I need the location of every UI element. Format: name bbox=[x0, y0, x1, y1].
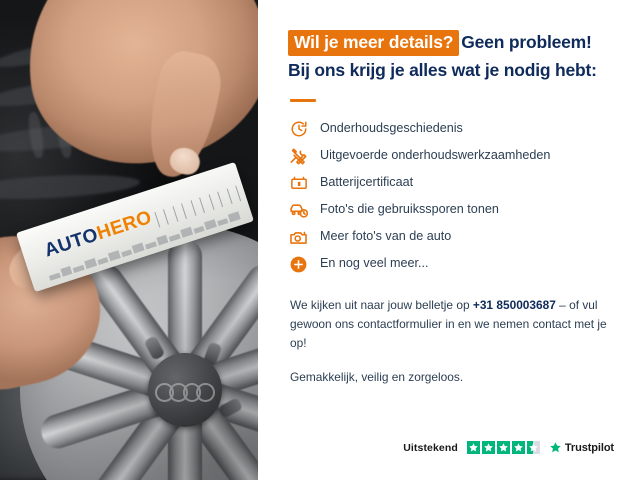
ad-content-panel: Wil je meer details?Geen probleem! Bij o… bbox=[258, 0, 640, 480]
headline-rest: Geen probleem! bbox=[461, 32, 591, 52]
trustpilot-star bbox=[512, 441, 525, 454]
trustpilot-star-half bbox=[527, 441, 540, 454]
list-item-label: Uitgevoerde onderhoudswerkzaamheden bbox=[320, 148, 550, 163]
trustpilot-brand-name: Trustpilot bbox=[565, 442, 614, 454]
list-item: Meer foto's van de auto bbox=[288, 224, 614, 251]
contact-text-pre: We kijken uit naar jouw belletje op bbox=[290, 298, 473, 312]
battery-icon bbox=[288, 173, 309, 194]
tyre-inspection-photo: AUTOHERO bbox=[0, 0, 258, 480]
trustpilot-stars bbox=[467, 441, 540, 454]
tagline-paragraph: Gemakkelijk, veilig en zorgeloos. bbox=[290, 368, 614, 387]
phone-number[interactable]: +31 850003687 bbox=[473, 298, 556, 312]
list-item-label: Meer foto's van de auto bbox=[320, 229, 451, 244]
list-item-label: Onderhoudsgeschiedenis bbox=[320, 121, 463, 136]
trustpilot-rating-word: Uitstekend bbox=[403, 442, 458, 454]
car-wear-photo-icon bbox=[288, 200, 309, 221]
list-item-label: En nog veel meer... bbox=[320, 256, 429, 271]
tools-icon bbox=[288, 146, 309, 167]
orange-divider bbox=[290, 99, 316, 102]
headline-highlight: Wil je meer details? bbox=[288, 30, 459, 56]
trustpilot-brand: Trustpilot bbox=[549, 441, 614, 454]
headline-line-2: Bij ons krijg je alles wat je nodig hebt… bbox=[288, 59, 614, 82]
contact-paragraph: We kijken uit naar jouw belletje op +31 … bbox=[290, 296, 614, 354]
camera-icon bbox=[288, 227, 309, 248]
list-item-label: Batterijcertificaat bbox=[320, 175, 413, 190]
list-item: Onderhoudsgeschiedenis bbox=[288, 116, 614, 143]
list-item: Uitgevoerde onderhoudswerkzaamheden bbox=[288, 143, 614, 170]
feature-list: Onderhoudsgeschiedenis Uitgevoerde onder… bbox=[288, 116, 614, 278]
page-title: Wil je meer details?Geen probleem! Bij o… bbox=[288, 30, 614, 83]
photo-scene: AUTOHERO bbox=[0, 0, 258, 480]
list-item: En nog veel meer... bbox=[288, 251, 614, 278]
trustpilot-star bbox=[467, 441, 480, 454]
trustpilot-rating[interactable]: Uitstekend Trustp bbox=[403, 441, 614, 454]
trustpilot-star-icon bbox=[549, 441, 562, 454]
maintenance-history-icon bbox=[288, 119, 309, 140]
list-item: Foto's die gebruikssporen tonen bbox=[288, 197, 614, 224]
autohero-display-ad: AUTOHERO Wil je meer details?Geen proble… bbox=[0, 0, 640, 480]
trustpilot-star bbox=[482, 441, 495, 454]
list-item: Batterijcertificaat bbox=[288, 170, 614, 197]
plus-circle-icon bbox=[288, 254, 309, 275]
trustpilot-star bbox=[497, 441, 510, 454]
list-item-label: Foto's die gebruikssporen tonen bbox=[320, 202, 499, 217]
